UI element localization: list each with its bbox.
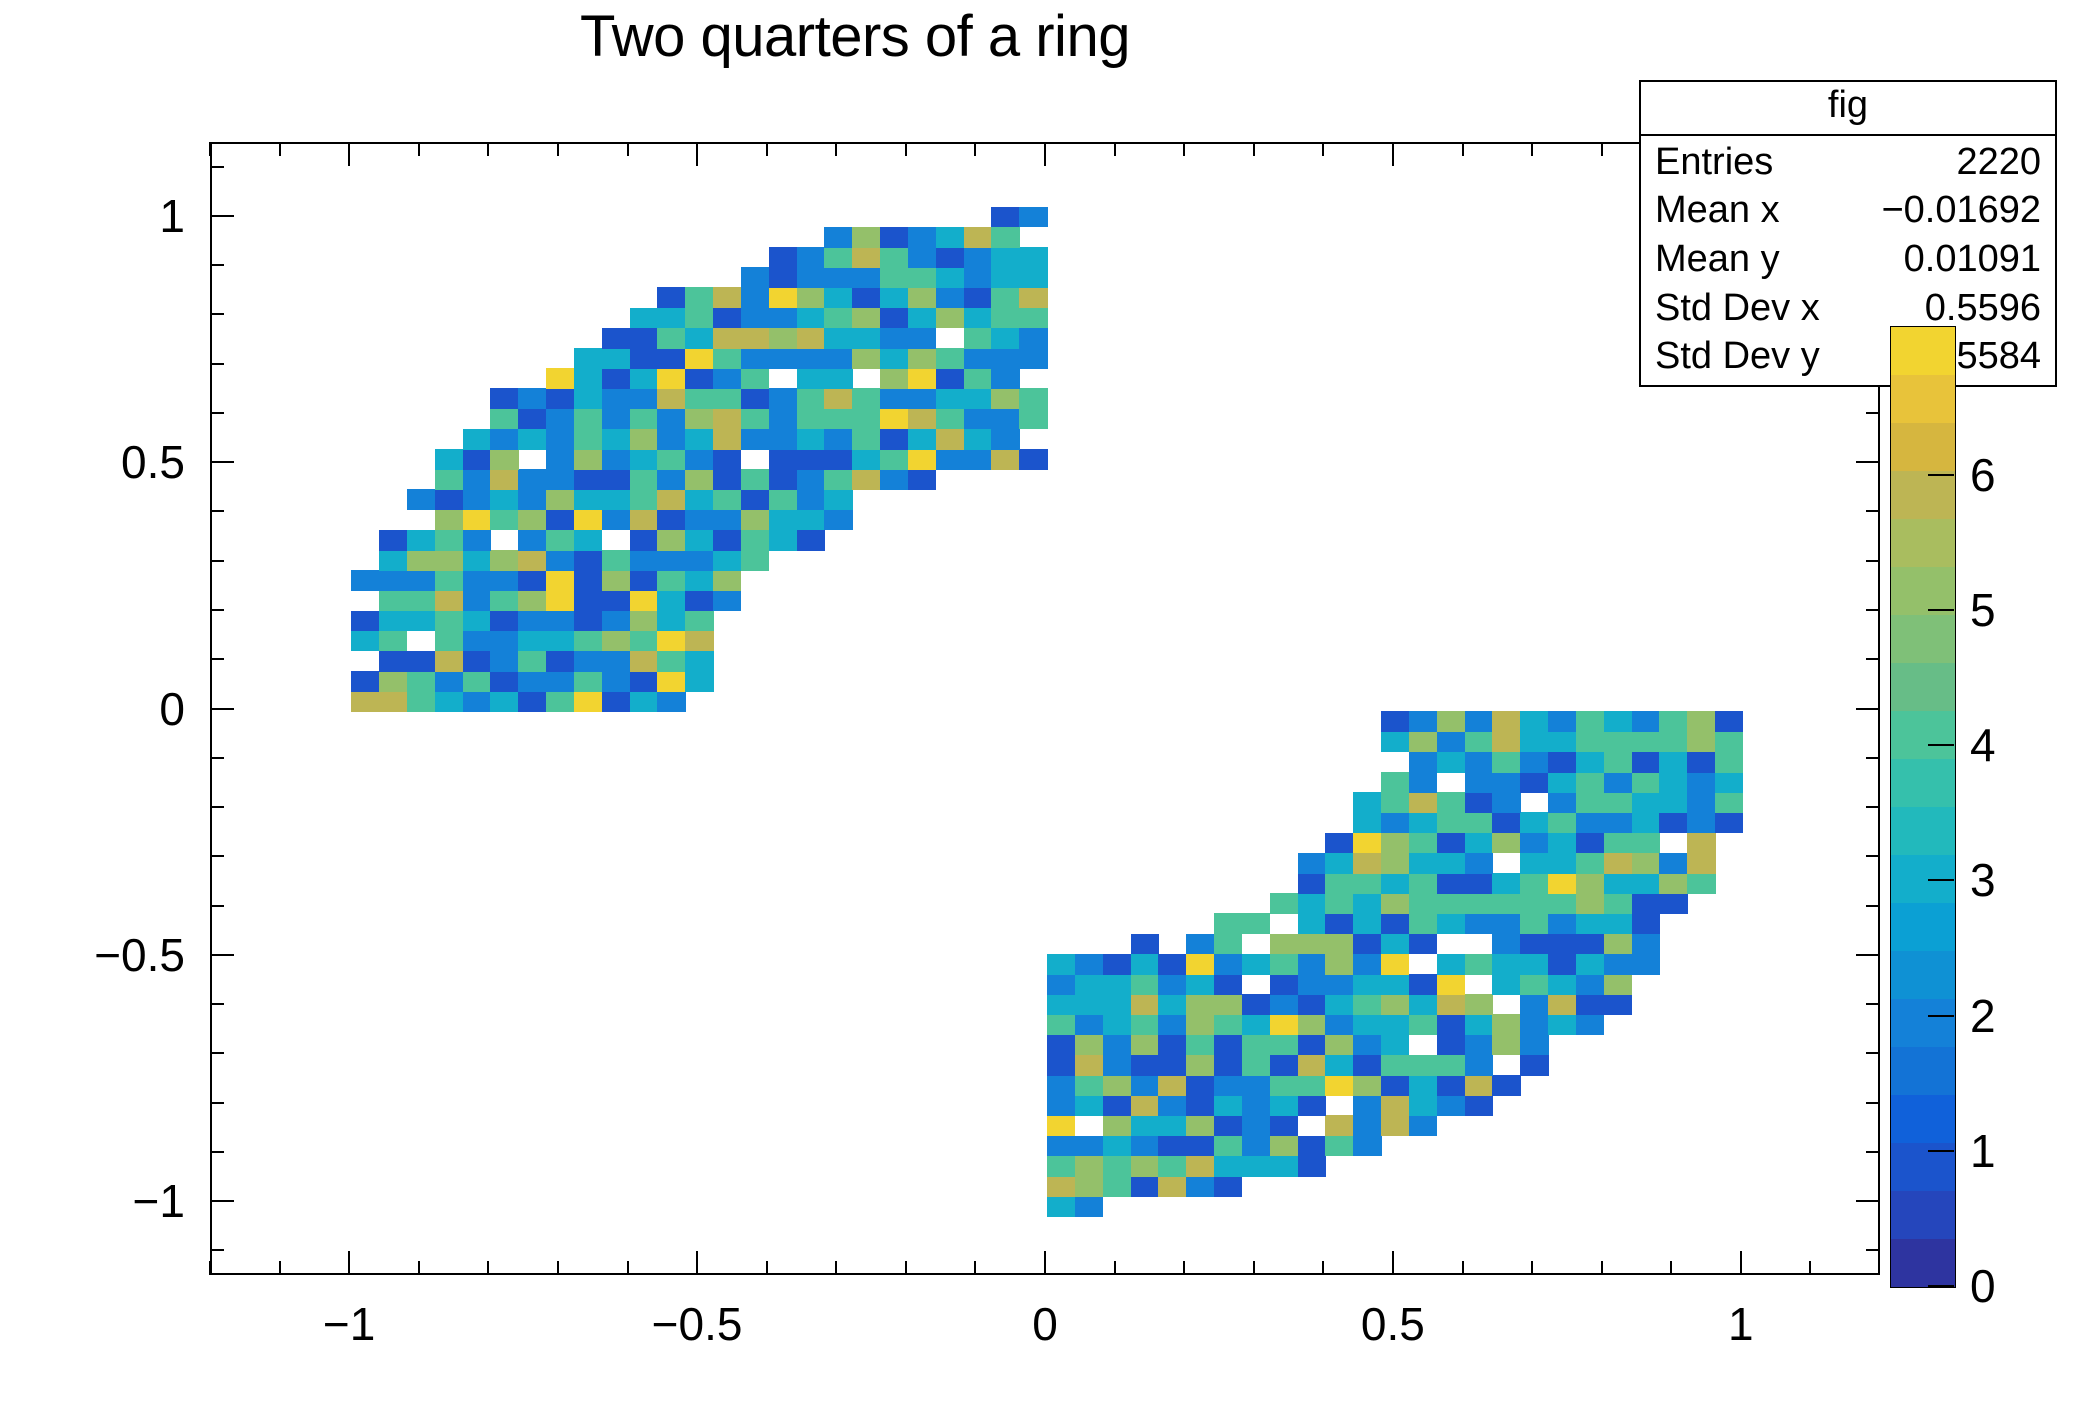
x-minor-tick-top	[905, 142, 907, 156]
x-minor-tick-top	[487, 142, 489, 156]
histogram-bin	[351, 691, 379, 712]
histogram-bin	[602, 449, 630, 470]
histogram-bin	[964, 328, 992, 349]
x-minor-tick-top	[1253, 142, 1255, 156]
histogram-bin	[936, 388, 964, 409]
histogram-bin	[1687, 772, 1715, 793]
histogram-bin	[1465, 893, 1493, 914]
histogram-bin	[546, 469, 574, 490]
histogram-bin	[824, 469, 852, 490]
histogram-bin	[1715, 812, 1743, 833]
stats-row: Entries2220	[1641, 138, 2055, 187]
histogram-bin	[657, 550, 685, 571]
histogram-bin	[630, 308, 658, 329]
y-axis-label: −1	[20, 1178, 185, 1224]
histogram-bin	[351, 611, 379, 632]
palette-tick	[1928, 1015, 1954, 1017]
histogram-bin	[713, 550, 741, 571]
histogram-bin	[435, 691, 463, 712]
histogram-bin	[1158, 1156, 1186, 1177]
histogram-bin	[741, 368, 769, 389]
histogram-bin	[490, 469, 518, 490]
histogram-bin	[630, 348, 658, 369]
histogram-bin	[1242, 913, 1270, 934]
histogram-bin	[1687, 752, 1715, 773]
histogram-bin	[797, 429, 825, 450]
histogram-bin	[1604, 752, 1632, 773]
histogram-bin	[1604, 994, 1632, 1015]
histogram-bin	[1465, 812, 1493, 833]
stats-row: Std Dev y0.5584	[1641, 332, 2055, 381]
y-minor-tick-right	[1866, 609, 1880, 611]
histogram-bin	[685, 671, 713, 692]
histogram-bin	[1409, 873, 1437, 894]
histogram-bin	[602, 328, 630, 349]
histogram-bin	[880, 409, 908, 430]
palette-cell	[1891, 1191, 1955, 1239]
histogram-bin	[713, 287, 741, 308]
histogram-bin	[1298, 1035, 1326, 1056]
histogram-bin	[1075, 974, 1103, 995]
histogram-bin	[630, 510, 658, 531]
histogram-bin	[1715, 711, 1743, 732]
x-minor-tick-top	[1531, 142, 1533, 156]
histogram-bin	[1325, 1075, 1353, 1096]
y-minor-tick-right	[1866, 1003, 1880, 1005]
histogram-bin	[1632, 752, 1660, 773]
histogram-bin	[685, 328, 713, 349]
histogram-bin	[463, 691, 491, 712]
histogram-bin	[1409, 792, 1437, 813]
histogram-bin	[797, 267, 825, 288]
histogram-bin	[1409, 1095, 1437, 1116]
histogram-bin	[1548, 1014, 1576, 1035]
histogram-bin	[991, 429, 1019, 450]
y-minor-tick	[210, 1151, 224, 1153]
histogram-bin	[1381, 732, 1409, 753]
histogram-bin	[852, 328, 880, 349]
histogram-bin	[1715, 752, 1743, 773]
histogram-bin	[908, 429, 936, 450]
histogram-bin	[1186, 1055, 1214, 1076]
histogram-bin	[880, 388, 908, 409]
y-minor-tick-right	[1866, 658, 1880, 660]
histogram-bin	[1131, 1156, 1159, 1177]
y-minor-tick-right	[1866, 855, 1880, 857]
histogram-bin	[713, 429, 741, 450]
x-minor-tick	[1322, 1261, 1324, 1275]
histogram-bin	[602, 590, 630, 611]
y-axis-label: 0	[20, 686, 185, 732]
histogram-bin	[546, 449, 574, 470]
histogram-bin	[1381, 934, 1409, 955]
histogram-bin	[797, 469, 825, 490]
histogram-bin	[574, 611, 602, 632]
histogram-bin	[1409, 893, 1437, 914]
histogram-bin	[546, 489, 574, 510]
histogram-bin	[574, 570, 602, 591]
histogram-bin	[1492, 772, 1520, 793]
palette-cell	[1891, 471, 1955, 519]
histogram-bin	[657, 308, 685, 329]
histogram-bin	[1186, 994, 1214, 1015]
histogram-bin	[1465, 772, 1493, 793]
x-minor-tick-top	[209, 142, 211, 156]
histogram-bin	[1047, 1136, 1075, 1157]
histogram-bin	[769, 449, 797, 470]
histogram-bin	[518, 651, 546, 672]
histogram-bin	[1353, 1136, 1381, 1157]
histogram-bin	[1520, 954, 1548, 975]
histogram-bin	[741, 287, 769, 308]
histogram-bin	[1298, 893, 1326, 914]
histogram-bin	[852, 409, 880, 430]
histogram-bin	[1659, 752, 1687, 773]
histogram-bin	[1381, 711, 1409, 732]
histogram-bin	[1520, 1055, 1548, 1076]
histogram-bin	[379, 631, 407, 652]
x-minor-tick	[835, 1261, 837, 1275]
histogram-bin	[908, 348, 936, 369]
histogram-bin	[490, 631, 518, 652]
histogram-bin	[463, 469, 491, 490]
histogram-bin	[602, 429, 630, 450]
histogram-bin	[1492, 711, 1520, 732]
y-minor-tick	[210, 658, 224, 660]
histogram-bin	[1353, 913, 1381, 934]
histogram-bin	[463, 510, 491, 531]
histogram-bin	[602, 550, 630, 571]
y-minor-tick	[210, 560, 224, 562]
histogram-bin	[880, 469, 908, 490]
histogram-bin	[630, 409, 658, 430]
histogram-bin	[1465, 732, 1493, 753]
histogram-bin	[518, 429, 546, 450]
histogram-bin	[1576, 954, 1604, 975]
histogram-bin	[1520, 934, 1548, 955]
histogram-bin	[713, 590, 741, 611]
histogram-bin	[435, 570, 463, 591]
histogram-bin	[741, 469, 769, 490]
histogram-bin	[1353, 1014, 1381, 1035]
histogram-bin	[1576, 974, 1604, 995]
histogram-bin	[1687, 833, 1715, 854]
histogram-bin	[824, 227, 852, 248]
stats-row-value: 0.01091	[1904, 238, 2041, 281]
histogram-bin	[685, 611, 713, 632]
histogram-bin	[1353, 1055, 1381, 1076]
histogram-bin	[1214, 1055, 1242, 1076]
histogram-bin	[880, 348, 908, 369]
histogram-bin	[769, 308, 797, 329]
palette-cell	[1891, 375, 1955, 423]
histogram-bin	[546, 691, 574, 712]
x-minor-tick-top	[627, 142, 629, 156]
histogram-bin	[964, 267, 992, 288]
histogram-bin	[1520, 752, 1548, 773]
palette-cell	[1891, 615, 1955, 663]
histogram-bin	[1353, 1075, 1381, 1096]
histogram-bin	[435, 651, 463, 672]
histogram-bin	[797, 348, 825, 369]
histogram-bin	[657, 510, 685, 531]
histogram-bin	[657, 530, 685, 551]
palette-tick	[1928, 1150, 1954, 1152]
histogram-bin	[1492, 913, 1520, 934]
histogram-bin	[908, 368, 936, 389]
histogram-bin	[1437, 1095, 1465, 1116]
histogram-bin	[1687, 711, 1715, 732]
histogram-bin	[1158, 1176, 1186, 1197]
histogram-bin	[1270, 934, 1298, 955]
histogram-bin	[936, 409, 964, 430]
histogram-bin	[908, 328, 936, 349]
stats-row: Mean y0.01091	[1641, 235, 2055, 284]
histogram-bin	[1131, 994, 1159, 1015]
histogram-bin	[1381, 812, 1409, 833]
histogram-bin	[546, 671, 574, 692]
x-minor-tick	[209, 1261, 211, 1275]
y-minor-tick	[210, 1102, 224, 1104]
histogram-bin	[1270, 1136, 1298, 1157]
histogram-bin	[852, 267, 880, 288]
histogram-bin	[1186, 1115, 1214, 1136]
histogram-bin	[435, 611, 463, 632]
y-major-tick-right	[1856, 461, 1880, 463]
histogram-bin	[1270, 1115, 1298, 1136]
histogram-bin	[1632, 873, 1660, 894]
histogram-bin	[1158, 994, 1186, 1015]
stats-row-value: −0.01692	[1881, 189, 2041, 232]
x-minor-tick-top	[835, 142, 837, 156]
histogram-bin	[657, 570, 685, 591]
x-minor-tick-top	[974, 142, 976, 156]
histogram-bin	[574, 489, 602, 510]
histogram-bin	[1075, 1014, 1103, 1035]
histogram-bin	[1353, 792, 1381, 813]
histogram-bin	[1492, 1014, 1520, 1035]
histogram-bin	[1715, 792, 1743, 813]
histogram-bin	[1186, 1156, 1214, 1177]
histogram-bin	[1325, 934, 1353, 955]
histogram-bin	[852, 247, 880, 268]
histogram-bin	[351, 570, 379, 591]
histogram-bin	[1298, 913, 1326, 934]
histogram-bin	[1409, 994, 1437, 1015]
histogram-bin	[1465, 994, 1493, 1015]
x-minor-tick	[1114, 1261, 1116, 1275]
histogram-bin	[1131, 1095, 1159, 1116]
histogram-bin	[936, 287, 964, 308]
x-axis-label: 1	[1728, 1301, 1754, 1347]
y-minor-tick	[210, 1003, 224, 1005]
y-major-tick	[210, 215, 234, 217]
histogram-bin	[463, 590, 491, 611]
histogram-bin	[1103, 1095, 1131, 1116]
histogram-bin	[1131, 1035, 1159, 1056]
histogram-bin	[1298, 1014, 1326, 1035]
histogram-bin	[1520, 833, 1548, 854]
histogram-bin	[1492, 1075, 1520, 1096]
histogram-bin	[1604, 732, 1632, 753]
histogram-bin	[1548, 732, 1576, 753]
histogram-bin	[1242, 1095, 1270, 1116]
histogram-bin	[1298, 974, 1326, 995]
histogram-bin	[1604, 772, 1632, 793]
histogram-bin	[741, 388, 769, 409]
histogram-bin	[936, 308, 964, 329]
histogram-bin	[824, 510, 852, 531]
histogram-bin	[574, 469, 602, 490]
histogram-bin	[1465, 853, 1493, 874]
histogram-bin	[1437, 974, 1465, 995]
histogram-bin	[1576, 853, 1604, 874]
y-minor-tick	[210, 363, 224, 365]
histogram-bin	[574, 449, 602, 470]
histogram-bin	[1186, 1075, 1214, 1096]
palette-cell	[1891, 807, 1955, 855]
y-minor-tick-right	[1866, 510, 1880, 512]
histogram-bin	[546, 570, 574, 591]
histogram-bin	[1465, 1075, 1493, 1096]
histogram-bin	[1437, 913, 1465, 934]
histogram-bin	[1298, 853, 1326, 874]
histogram-bin	[1242, 1115, 1270, 1136]
histogram-bin	[991, 328, 1019, 349]
histogram-bin	[1019, 348, 1047, 369]
y-minor-tick	[210, 1052, 224, 1054]
histogram-bin	[1576, 792, 1604, 813]
histogram-bin	[991, 449, 1019, 470]
histogram-bin	[463, 530, 491, 551]
histogram-bin	[769, 388, 797, 409]
histogram-bin	[824, 388, 852, 409]
histogram-bin	[908, 308, 936, 329]
stats-row: Mean x−0.01692	[1641, 186, 2055, 235]
x-minor-tick	[1183, 1261, 1185, 1275]
histogram-bin	[991, 368, 1019, 389]
histogram-bin	[1381, 853, 1409, 874]
histogram-bin	[1604, 711, 1632, 732]
histogram-bin	[936, 247, 964, 268]
histogram-bin	[463, 611, 491, 632]
histogram-bin	[1520, 913, 1548, 934]
histogram-bin	[1019, 247, 1047, 268]
histogram-bin	[1047, 1014, 1075, 1035]
y-minor-tick	[210, 1249, 224, 1251]
histogram-bin	[769, 348, 797, 369]
histogram-bin	[769, 287, 797, 308]
histogram-bin	[490, 611, 518, 632]
histogram-bin	[1242, 1014, 1270, 1035]
histogram-bin	[1019, 328, 1047, 349]
stats-row-label: Std Dev x	[1655, 287, 1820, 330]
histogram-bin	[1604, 974, 1632, 995]
palette-label: 1	[1970, 1128, 1996, 1174]
histogram-bin	[1604, 853, 1632, 874]
histogram-bin	[1492, 1035, 1520, 1056]
histogram-bin	[936, 368, 964, 389]
histogram-bin	[908, 287, 936, 308]
x-minor-tick	[1601, 1261, 1603, 1275]
histogram-bin	[407, 590, 435, 611]
y-minor-tick	[210, 412, 224, 414]
histogram-bin	[741, 308, 769, 329]
histogram-bin	[1131, 1176, 1159, 1197]
x-minor-tick	[1462, 1261, 1464, 1275]
histogram-bin	[1270, 1055, 1298, 1076]
histogram-bin	[797, 489, 825, 510]
histogram-bin	[1075, 1095, 1103, 1116]
histogram-bin	[1632, 772, 1660, 793]
histogram-bin	[435, 590, 463, 611]
histogram-bin	[1075, 1075, 1103, 1096]
histogram-bin	[685, 368, 713, 389]
histogram-bin	[1576, 873, 1604, 894]
histogram-bin	[741, 409, 769, 430]
histogram-bin	[657, 651, 685, 672]
histogram-bin	[824, 449, 852, 470]
histogram-bin	[824, 489, 852, 510]
histogram-bin	[964, 409, 992, 430]
x-minor-tick	[974, 1261, 976, 1275]
histogram-bin	[1158, 974, 1186, 995]
histogram-bin	[1381, 1115, 1409, 1136]
y-major-tick	[210, 954, 234, 956]
histogram-bin	[602, 368, 630, 389]
histogram-bin	[1381, 833, 1409, 854]
histogram-bin	[1576, 893, 1604, 914]
histogram-bin	[1270, 893, 1298, 914]
histogram-bin	[1047, 1075, 1075, 1096]
histogram-bin	[1632, 833, 1660, 854]
histogram-bin	[964, 287, 992, 308]
histogram-bin	[1492, 812, 1520, 833]
histogram-bin	[991, 267, 1019, 288]
histogram-bin	[602, 489, 630, 510]
histogram-bin	[1548, 853, 1576, 874]
histogram-bin	[1047, 1095, 1075, 1116]
histogram-bin	[1019, 267, 1047, 288]
histogram-bin	[602, 611, 630, 632]
histogram-bin	[1270, 954, 1298, 975]
x-minor-tick	[1809, 1261, 1811, 1275]
histogram-bin	[1659, 893, 1687, 914]
histogram-bin	[824, 409, 852, 430]
x-minor-tick	[557, 1261, 559, 1275]
histogram-bin	[1353, 934, 1381, 955]
histogram-bin	[518, 469, 546, 490]
x-minor-tick	[1670, 1261, 1672, 1275]
x-minor-tick-top	[1322, 142, 1324, 156]
histogram-bin	[1409, 1075, 1437, 1096]
histogram-bin	[1437, 1014, 1465, 1035]
histogram-bin	[435, 530, 463, 551]
histogram-bin	[1409, 1055, 1437, 1076]
histogram-bin	[1158, 1055, 1186, 1076]
histogram-bin	[1548, 954, 1576, 975]
histogram-bin	[1019, 308, 1047, 329]
palette-cell	[1891, 519, 1955, 567]
histogram-bin	[435, 489, 463, 510]
histogram-bin	[1325, 974, 1353, 995]
histogram-bin	[1103, 994, 1131, 1015]
histogram-bin	[1632, 954, 1660, 975]
histogram-bin	[1659, 711, 1687, 732]
y-minor-tick	[210, 757, 224, 759]
histogram-bin	[1214, 1075, 1242, 1096]
histogram-bin	[964, 227, 992, 248]
